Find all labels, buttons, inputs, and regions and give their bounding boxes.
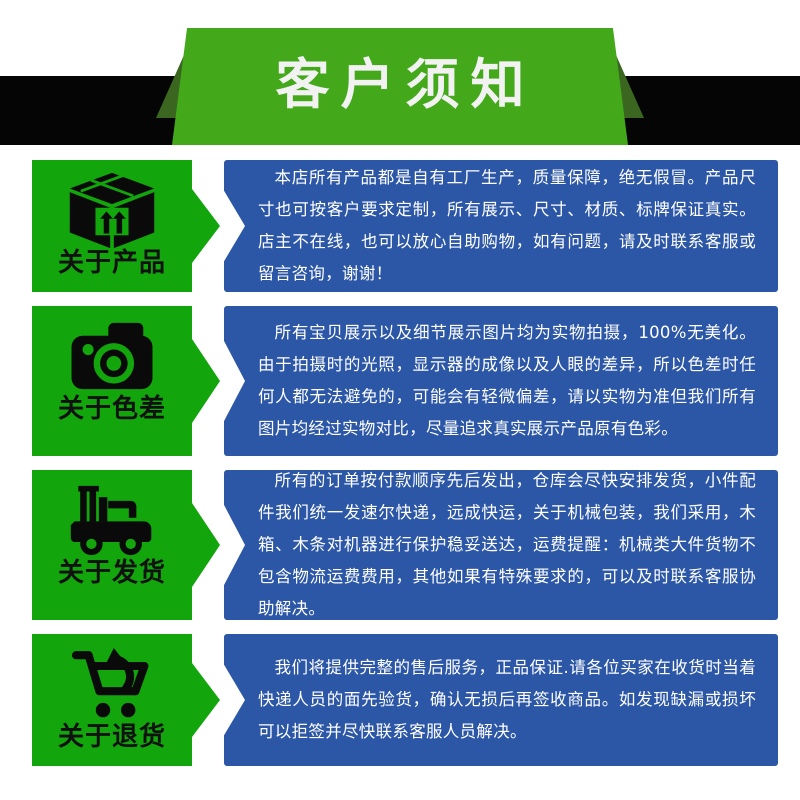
tile-product[interactable]: 关于产品 [32,160,192,292]
tile-return[interactable]: 关于退货 [32,634,192,766]
notice-row-shipping: 关于发货 所有的订单按付款顺序先后发出，仓库会尽快安排发货，小件配件我们统一发速… [0,470,800,620]
tile-chevron-point [192,306,220,456]
package-box-icon [64,172,160,248]
panel-text-product: 本店所有产品都是自有工厂生产，质量保障，绝无假冒。产品尺寸也可按客户要求定制，所… [258,162,756,291]
notice-rows: 关于产品 本店所有产品都是自有工厂生产，质量保障，绝无假冒。产品尺寸也可按客户要… [0,160,800,766]
panel-notch [223,634,245,766]
tile-label-color: 关于色差 [58,396,166,422]
notice-row-product: 关于产品 本店所有产品都是自有工厂生产，质量保障，绝无假冒。产品尺寸也可按客户要… [0,160,800,292]
forklift-truck-icon [64,482,160,558]
page-title: 客户须知 [265,58,536,116]
header-banner: 客户须知 [0,0,800,160]
camera-icon [64,318,160,394]
panel-return: 我们将提供完整的售后服务，正品保证.请各位买家在收货时当着快递人员的面先验货，确… [224,634,778,766]
panel-color: 所有宝贝展示以及细节展示图片均为实物拍摄，100%无美化。由于拍摄时的光照，显示… [224,306,778,456]
panel-text-color: 所有宝贝展示以及细节展示图片均为实物拍摄，100%无美化。由于拍摄时的光照，显示… [258,317,756,446]
tile-chevron-point [192,634,220,766]
panel-notch [223,306,245,456]
tile-color[interactable]: 关于色差 [32,306,192,456]
tile-label-return: 关于退货 [58,724,166,750]
tile-chevron-point [192,470,220,620]
panel-notch [223,470,245,620]
banner-ribbon: 客户须知 [172,28,628,145]
tile-label-product: 关于产品 [58,250,166,276]
tile-label-shipping: 关于发货 [58,560,166,586]
panel-shipping: 所有的订单按付款顺序先后发出，仓库会尽快安排发货，小件配件我们统一发速尔快递，远… [224,470,778,620]
panel-text-return: 我们将提供完整的售后服务，正品保证.请各位买家在收货时当着快递人员的面先验货，确… [258,652,756,749]
notice-row-return: 关于退货 我们将提供完整的售后服务，正品保证.请各位买家在收货时当着快递人员的面… [0,634,800,766]
panel-text-shipping: 所有的订单按付款顺序先后发出，仓库会尽快安排发货，小件配件我们统一发速尔快递，远… [258,465,756,626]
notice-row-color: 关于色差 所有宝贝展示以及细节展示图片均为实物拍摄，100%无美化。由于拍摄时的… [0,306,800,456]
return-cart-icon [64,646,160,722]
tile-shipping[interactable]: 关于发货 [32,470,192,620]
panel-notch [223,160,245,292]
panel-product: 本店所有产品都是自有工厂生产，质量保障，绝无假冒。产品尺寸也可按客户要求定制，所… [224,160,778,292]
tile-chevron-point [192,160,220,292]
